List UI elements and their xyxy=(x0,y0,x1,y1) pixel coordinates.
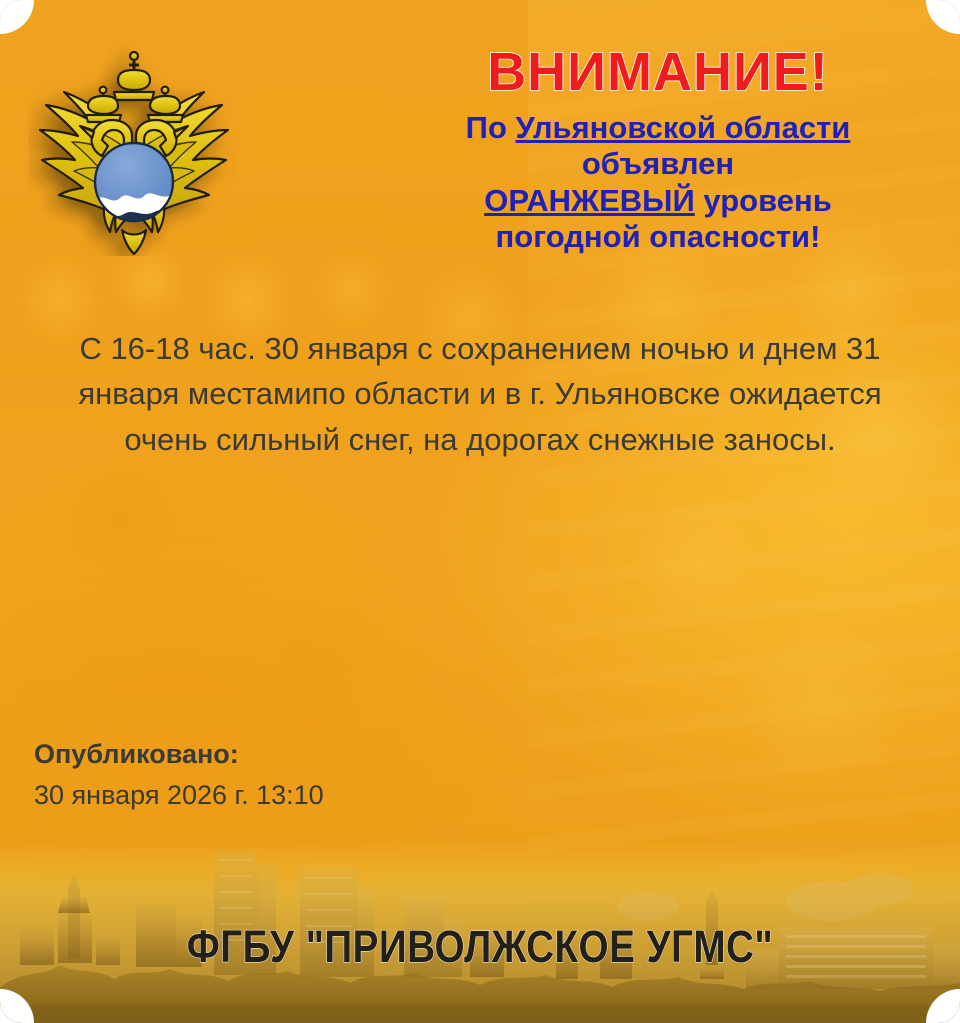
roshydromet-eagle-emblem-icon xyxy=(28,40,240,256)
warning-line-4: погодной опасности! xyxy=(380,219,936,255)
warning-line-1-emphasis: Ульяновской области xyxy=(516,110,851,145)
header-block: ВНИМАНИЕ! По Ульяновской области объявле… xyxy=(380,44,936,255)
warning-line-3-suffix: уровень xyxy=(695,183,832,218)
warning-line-1-prefix: По xyxy=(466,110,516,145)
warning-line-3-emphasis: ОРАНЖЕВЫЙ xyxy=(484,183,695,218)
warning-line-4-prefix: погодной опасности! xyxy=(496,219,821,254)
forecast-body-text: С 16-18 час. 30 января с сохранением ноч… xyxy=(78,326,882,462)
published-label: Опубликовано: xyxy=(34,738,554,772)
published-date: 30 января 2026 г. 13:10 xyxy=(34,779,554,813)
warning-line-3: ОРАНЖЕВЫЙ уровень xyxy=(380,183,936,219)
footer-banner: ФГБУ "ПРИВОЛЖСКОЕ УГМС" xyxy=(0,841,960,1023)
warning-line-1: По Ульяновской области xyxy=(380,110,936,146)
published-block: Опубликовано: 30 января 2026 г. 13:10 xyxy=(34,738,554,813)
organization-name: ФГБУ "ПРИВОЛЖСКОЕ УГМС" xyxy=(67,924,893,969)
weather-warning-poster: ВНИМАНИЕ! По Ульяновской области объявле… xyxy=(0,0,960,1023)
warning-line-2: объявлен xyxy=(380,146,936,182)
warning-line-2-prefix: объявлен xyxy=(582,146,734,181)
warning-subheading: По Ульяновской области объявлен ОРАНЖЕВЫ… xyxy=(380,110,936,255)
attention-heading: ВНИМАНИЕ! xyxy=(380,44,936,100)
